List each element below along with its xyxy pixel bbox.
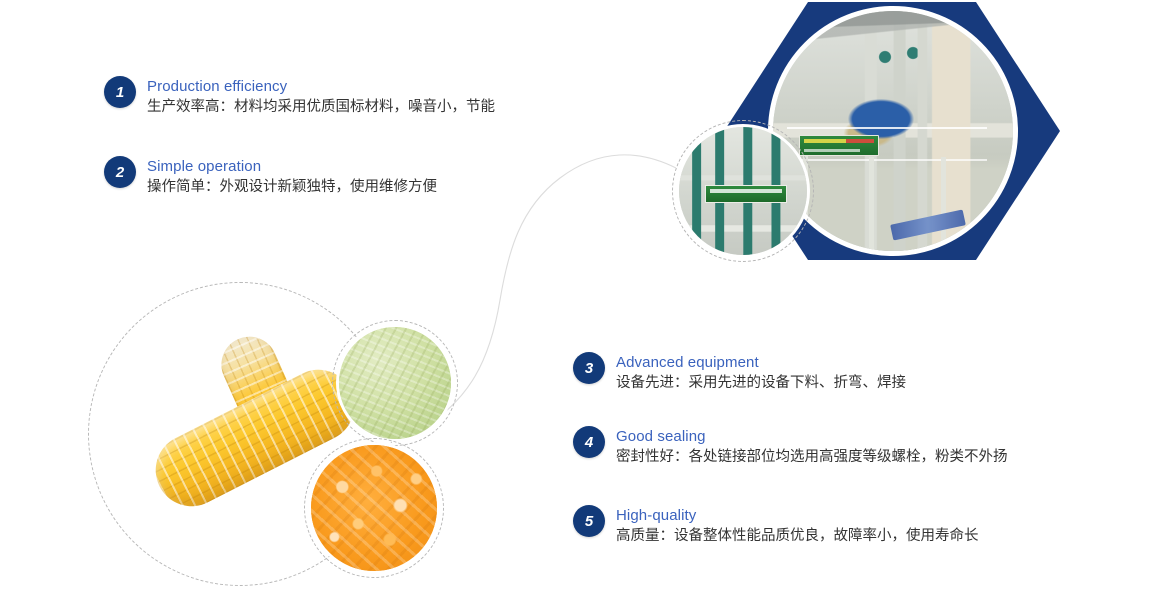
corn-flour-paste-photo: [336, 324, 454, 442]
feature-badge-3: 3: [573, 352, 605, 384]
feature-title-2: Simple operation: [147, 157, 437, 176]
feature-title-5: High-quality: [616, 506, 979, 525]
feature-item-5: 5 High-quality 高质量：设备整体性能品质优良，故障率小，使用寿命长: [573, 505, 979, 547]
feature-badge-2: 2: [104, 156, 136, 188]
feature-text-5: High-quality 高质量：设备整体性能品质优良，故障率小，使用寿命长: [616, 505, 979, 547]
feature-item-3: 3 Advanced equipment 设备先进：采用先进的设备下料、折弯、焊…: [573, 352, 906, 394]
feature-text-2: Simple operation 操作简单：外观设计新颖独特，使用维修方便: [147, 156, 437, 198]
green-milling-line-group: [672, 120, 814, 262]
feature-desc-1: 生产效率高：材料均采用优质国标材料，噪音小，节能: [147, 97, 495, 118]
green-milling-line-photo: [676, 124, 810, 258]
infographic-canvas: 1 Production efficiency 生产效率高：材料均采用优质国标材…: [0, 0, 1154, 591]
corn-grits-photo-surface: [308, 442, 440, 574]
feature-badge-5: 5: [573, 505, 605, 537]
feature-desc-4: 密封性好：各处链接部位均选用高强度等级螺栓，粉类不外扬: [616, 447, 1008, 468]
feature-title-1: Production efficiency: [147, 77, 495, 96]
feature-text-3: Advanced equipment 设备先进：采用先进的设备下料、折弯、焊接: [616, 352, 906, 394]
feature-item-4: 4 Good sealing 密封性好：各处链接部位均选用高强度等级螺栓，粉类不…: [573, 426, 1008, 468]
feature-badge-1: 1: [104, 76, 136, 108]
corn-flour-photo-surface: [336, 324, 454, 442]
feature-item-1: 1 Production efficiency 生产效率高：材料均采用优质国标材…: [104, 76, 495, 118]
small-machine-signboard: [705, 185, 787, 203]
feature-desc-5: 高质量：设备整体性能品质优良，故障率小，使用寿命长: [616, 526, 979, 547]
machine-support-post: [941, 157, 946, 251]
feature-text-1: Production efficiency 生产效率高：材料均采用优质国标材料，…: [147, 76, 495, 118]
feature-badge-4: 4: [573, 426, 605, 458]
machine-support-post: [869, 157, 874, 253]
feature-desc-3: 设备先进：采用先进的设备下料、折弯、焊接: [616, 373, 906, 394]
feature-item-2: 2 Simple operation 操作简单：外观设计新颖独特，使用维修方便: [104, 156, 437, 198]
corn-photo-cluster: [88, 282, 446, 587]
corn-grits-photo: [308, 442, 440, 574]
feature-title-4: Good sealing: [616, 427, 1008, 446]
feature-desc-2: 操作简单：外观设计新颖独特，使用维修方便: [147, 177, 437, 198]
feature-title-3: Advanced equipment: [616, 353, 906, 372]
feature-text-4: Good sealing 密封性好：各处链接部位均选用高强度等级螺栓，粉类不外扬: [616, 426, 1008, 468]
